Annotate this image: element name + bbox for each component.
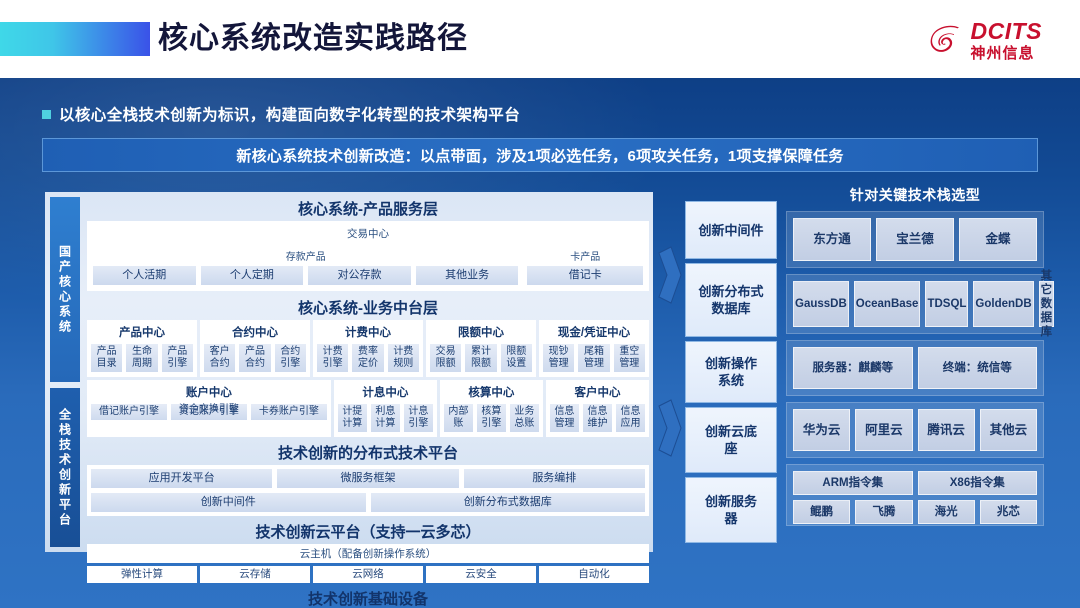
architecture-left-panel: 国产核心系统 全栈技术创新平台 核心系统-产品服务层 交易中心 存款产品 个人活… — [45, 192, 653, 552]
cloud-platform: 技术创新云平台（支持一云多芯） 云主机（配备创新操作系统） 弹性计算 云存储 云… — [87, 518, 649, 583]
center-item[interactable]: 计息 引擎 — [403, 403, 434, 433]
center-item[interactable]: 核算 引擎 — [476, 403, 507, 433]
center-card-items: 计费 引擎 费率 定价 计费 规则 — [316, 343, 420, 373]
product-group-deposit: 存款产品 个人活期 个人定期 对公存款 其他业务 — [90, 245, 521, 288]
business-center-row-2: 账户中心 借记账户引擎 贷记账户引擎 卡券账户引擎 资金交换引擎 计息中心 计提… — [87, 380, 649, 437]
header-gradient-bar — [0, 22, 150, 56]
left-panel-content: 核心系统-产品服务层 交易中心 存款产品 个人活期 个人定期 对公存款 其他业务 — [87, 195, 649, 608]
dtp-chip[interactable]: 应用开发平台 — [90, 468, 273, 489]
logo-en: DCITS — [971, 20, 1043, 43]
cloud-chip[interactable]: 云网络 — [313, 566, 423, 583]
vendor-tile[interactable]: 其它数据库 — [1039, 281, 1055, 327]
vertical-label-core-system: 国产核心系统 — [50, 197, 80, 382]
center-card-items: 客户 合约 产品 合约 合约 引擎 — [203, 343, 307, 373]
vendor-tile[interactable]: 服务器：麒麟等 — [793, 347, 913, 389]
cpu-vendor-tile[interactable]: 鲲鹏 — [793, 500, 850, 524]
center-item[interactable]: 累计 限额 — [464, 343, 497, 373]
cloud-chip[interactable]: 自动化 — [539, 566, 649, 583]
vendor-tile[interactable]: 华为云 — [793, 409, 850, 451]
business-middle-layer-title: 核心系统-业务中台层 — [87, 294, 649, 320]
cpu-vendor-tile[interactable]: 海光 — [918, 500, 975, 524]
vendor-tile[interactable]: TDSQL — [925, 281, 968, 327]
center-card-items: 产品 目录 生命 周期 产品 引擎 — [90, 343, 194, 373]
instruction-set-tile[interactable]: X86指令集 — [918, 471, 1038, 495]
card-group-label: 卡产品 — [526, 247, 644, 265]
center-card-title: 计息中心 — [337, 383, 434, 403]
center-item[interactable]: 产品 合约 — [238, 343, 271, 373]
center-card-items: 交易 限额 累计 限额 限额 设置 — [429, 343, 533, 373]
center-item[interactable]: 计提 计算 — [337, 403, 368, 433]
vendor-tile[interactable]: 其他云 — [980, 409, 1037, 451]
center-card-title: 现金/凭证中心 — [542, 323, 646, 343]
cloud-host-label: 云主机（配备创新操作系统） — [87, 544, 649, 563]
center-card[interactable]: 合约中心 客户 合约 产品 合约 合约 引擎 — [200, 320, 310, 377]
deposit-items-row: 个人活期 个人定期 对公存款 其他业务 — [92, 265, 519, 286]
stack-box-database[interactable]: 创新分布式 数据库 — [685, 263, 777, 337]
distributed-tech-platform-title: 技术创新的分布式技术平台 — [87, 439, 649, 465]
instruction-set-row: ARM指令集 X86指令集 — [793, 471, 1037, 495]
center-item[interactable]: 客户 合约 — [203, 343, 236, 373]
center-card-items: 内部 账 核算 引擎 业务 总账 — [443, 403, 540, 433]
product-chip[interactable]: 借记卡 — [526, 265, 644, 286]
vendor-tile[interactable]: GoldenDB — [973, 281, 1033, 327]
center-item[interactable]: 计费 引擎 — [316, 343, 349, 373]
distributed-tech-platform: 技术创新的分布式技术平台 应用开发平台 微服务框架 服务编排 创新中间件 创新分… — [87, 439, 649, 516]
tech-stack-selection-title: 针对关键技术栈选型 — [786, 185, 1044, 205]
center-card-items: 现钞 管理 尾箱 管理 重空 管理 — [542, 343, 646, 373]
slide-header: 核心系统改造实践路径 DCITS 神州信息 — [0, 0, 1080, 78]
vendor-tile[interactable]: 宝兰德 — [876, 218, 954, 261]
cloud-platform-title: 技术创新云平台（支持一云多芯） — [87, 518, 649, 544]
vendor-group-cloud: 华为云 阿里云 腾讯云 其他云 — [786, 402, 1044, 458]
banner-text: 新核心系统技术创新改造：以点带面，涉及1项必选任务，6项攻关任务，1项支撑保障任… — [236, 145, 843, 166]
business-center-row-1: 产品中心 产品 目录 生命 周期 产品 引擎 合约中心 客户 合约 产品 合约 … — [87, 320, 649, 377]
dtp-row-1: 应用开发平台 微服务框架 服务编排 — [90, 468, 646, 489]
dcits-logo: DCITS 神州信息 — [924, 18, 1043, 62]
slide-page: 核心系统改造实践路径 DCITS 神州信息 以核心全栈技术创新为标识，构建面向数… — [0, 0, 1080, 608]
vendor-group-database: GaussDB OceanBase TDSQL GoldenDB 其它数据库 — [786, 274, 1044, 334]
card-items-row: 借记卡 — [526, 265, 644, 286]
vendor-row: 服务器：麒麟等 终端：统信等 — [793, 347, 1037, 389]
stack-box-server[interactable]: 创新服务 器 — [685, 477, 777, 543]
center-item[interactable]: 重空 管理 — [613, 343, 646, 373]
banner: 新核心系统技术创新改造：以点带面，涉及1项必选任务，6项攻关任务，1项支撑保障任… — [42, 138, 1038, 172]
account-items: 借记账户引擎 贷记账户引擎 卡券账户引擎 — [90, 403, 328, 421]
center-item[interactable]: 产品 引擎 — [161, 343, 194, 373]
center-card-title: 核算中心 — [443, 383, 540, 403]
vendor-tile[interactable]: 腾讯云 — [918, 409, 975, 451]
deposit-group-label: 存款产品 — [92, 247, 519, 265]
center-card[interactable]: 产品中心 产品 目录 生命 周期 产品 引擎 — [87, 320, 197, 377]
flow-arrow-upper-icon — [657, 245, 683, 305]
center-card[interactable]: 核算中心 内部 账 核算 引擎 业务 总账 — [440, 380, 543, 437]
account-item[interactable]: 借记账户引擎 — [90, 403, 168, 421]
dcits-swirl-icon — [924, 20, 964, 60]
center-card-title: 合约中心 — [203, 323, 307, 343]
center-card-title: 计费中心 — [316, 323, 420, 343]
center-item[interactable]: 信息 管理 — [549, 403, 580, 433]
innovation-stack-column: 创新中间件 创新分布式 数据库 创新操作 系统 创新云底 座 创新服务 器 — [685, 201, 777, 547]
vendor-tile[interactable]: 终端：统信等 — [918, 347, 1038, 389]
vendor-tile[interactable]: OceanBase — [854, 281, 921, 327]
center-item[interactable]: 合约 引擎 — [274, 343, 307, 373]
center-card[interactable]: 计费中心 计费 引擎 费率 定价 计费 规则 — [313, 320, 423, 377]
cloud-chip[interactable]: 云存储 — [200, 566, 310, 583]
center-card[interactable]: 现金/凭证中心 现钞 管理 尾箱 管理 重空 管理 — [539, 320, 649, 377]
center-item[interactable]: 内部 账 — [443, 403, 474, 433]
flow-arrow-lower-icon — [657, 398, 683, 458]
vendor-tile[interactable]: 金蝶 — [959, 218, 1037, 261]
center-card[interactable]: 客户中心 信息 管理 信息 维护 信息 应用 — [546, 380, 649, 437]
product-service-layer-box: 交易中心 存款产品 个人活期 个人定期 对公存款 其他业务 — [87, 221, 649, 291]
tech-stack-selection-panel: 针对关键技术栈选型 东方通 宝兰德 金蝶 GaussDB OceanBase T… — [786, 185, 1044, 532]
account-item[interactable]: 贷记账户引擎 — [170, 403, 248, 421]
transaction-center-label: 交易中心 — [90, 224, 646, 243]
center-card-title: 产品中心 — [90, 323, 194, 343]
product-chip[interactable]: 个人定期 — [200, 265, 305, 286]
center-item[interactable]: 限额 设置 — [500, 343, 533, 373]
vendor-tile[interactable]: 阿里云 — [855, 409, 912, 451]
cpu-vendor-tile[interactable]: 飞腾 — [855, 500, 912, 524]
bullet-square-icon — [42, 110, 51, 119]
business-middle-layer: 核心系统-业务中台层 产品中心 产品 目录 生命 周期 产品 引擎 合约中心 — [87, 294, 649, 437]
stack-box-cloud[interactable]: 创新云底 座 — [685, 407, 777, 473]
logo-cn: 神州信息 — [971, 46, 1035, 61]
infrastructure-section: 技术创新基础设备 鲲鹏服务器 其它服务器 创新网络设备 创新安全设备 — [87, 585, 649, 608]
center-item[interactable]: 计费 规则 — [387, 343, 420, 373]
dtp-chip[interactable]: 服务编排 — [463, 468, 646, 489]
product-chip[interactable]: 其他业务 — [415, 265, 520, 286]
center-item[interactable]: 生命 周期 — [125, 343, 158, 373]
dtp-row-2: 创新中间件 创新分布式数据库 — [90, 492, 646, 513]
center-card-title: 客户中心 — [549, 383, 646, 403]
dtp-chip[interactable]: 微服务框架 — [276, 468, 459, 489]
vendor-row: 东方通 宝兰德 金蝶 — [793, 218, 1037, 261]
center-item[interactable]: 产品 目录 — [90, 343, 123, 373]
cloud-chip[interactable]: 云安全 — [426, 566, 536, 583]
center-item[interactable]: 业务 总账 — [509, 403, 540, 433]
logo-text: DCITS 神州信息 — [971, 20, 1043, 61]
bullet-text: 以核心全栈技术创新为标识，构建面向数字化转型的技术架构平台 — [59, 103, 520, 125]
page-title: 核心系统改造实践路径 — [158, 18, 468, 60]
vendor-group-server: ARM指令集 X86指令集 鲲鹏 飞腾 海光 兆芯 — [786, 464, 1044, 526]
vendor-row: GaussDB OceanBase TDSQL GoldenDB 其它数据库 — [793, 281, 1037, 327]
center-item[interactable]: 信息 维护 — [582, 403, 613, 433]
vendor-group-middleware: 东方通 宝兰德 金蝶 — [786, 211, 1044, 268]
cpu-vendor-tile[interactable]: 兆芯 — [980, 500, 1037, 524]
product-chip[interactable]: 对公存款 — [307, 265, 412, 286]
center-card-title: 账户中心 — [90, 383, 328, 403]
product-service-layer-title: 核心系统-产品服务层 — [87, 195, 649, 221]
center-card-account[interactable]: 账户中心 借记账户引擎 贷记账户引擎 卡券账户引擎 资金交换引擎 — [87, 380, 331, 437]
center-card[interactable]: 限额中心 交易 限额 累计 限额 限额 设置 — [426, 320, 536, 377]
product-service-layer: 核心系统-产品服务层 交易中心 存款产品 个人活期 个人定期 对公存款 其他业务 — [87, 195, 649, 291]
account-item[interactable]: 卡券账户引擎 — [250, 403, 328, 421]
center-item[interactable]: 费率 定价 — [351, 343, 384, 373]
product-groups-row: 存款产品 个人活期 个人定期 对公存款 其他业务 卡产品 借记卡 — [90, 245, 646, 288]
vendor-group-os: 服务器：麒麟等 终端：统信等 — [786, 340, 1044, 396]
center-card-items: 计提 计算 利息 计算 计息 引擎 — [337, 403, 434, 433]
center-item[interactable]: 信息 应用 — [615, 403, 646, 433]
vendor-row: 华为云 阿里云 腾讯云 其他云 — [793, 409, 1037, 451]
distributed-tech-platform-box: 应用开发平台 微服务框架 服务编排 创新中间件 创新分布式数据库 — [87, 465, 649, 516]
product-chip[interactable]: 个人活期 — [92, 265, 197, 286]
dtp-chip[interactable]: 创新中间件 — [90, 492, 367, 513]
bullet-line: 以核心全栈技术创新为标识，构建面向数字化转型的技术架构平台 — [42, 103, 520, 125]
infrastructure-title: 技术创新基础设备 — [87, 585, 649, 608]
center-item[interactable]: 利息 计算 — [370, 403, 401, 433]
cloud-items-row: 弹性计算 云存储 云网络 云安全 自动化 — [87, 566, 649, 583]
cpu-vendor-row: 鲲鹏 飞腾 海光 兆芯 — [793, 500, 1037, 524]
vendor-tile[interactable]: 东方通 — [793, 218, 871, 261]
center-item[interactable]: 现钞 管理 — [542, 343, 575, 373]
instruction-set-tile[interactable]: ARM指令集 — [793, 471, 913, 495]
center-card[interactable]: 计息中心 计提 计算 利息 计算 计息 引擎 — [334, 380, 437, 437]
cloud-chip[interactable]: 弹性计算 — [87, 566, 197, 583]
center-card-title: 限额中心 — [429, 323, 533, 343]
vendor-tile[interactable]: GaussDB — [793, 281, 849, 327]
vertical-label-tech-platform: 全栈技术创新平台 — [50, 388, 80, 547]
center-item[interactable]: 交易 限额 — [429, 343, 462, 373]
center-card-items: 信息 管理 信息 维护 信息 应用 — [549, 403, 646, 433]
stack-box-os[interactable]: 创新操作 系统 — [685, 341, 777, 403]
product-group-card: 卡产品 借记卡 — [524, 245, 646, 288]
center-item[interactable]: 尾箱 管理 — [577, 343, 610, 373]
stack-box-middleware[interactable]: 创新中间件 — [685, 201, 777, 259]
dtp-chip[interactable]: 创新分布式数据库 — [370, 492, 647, 513]
